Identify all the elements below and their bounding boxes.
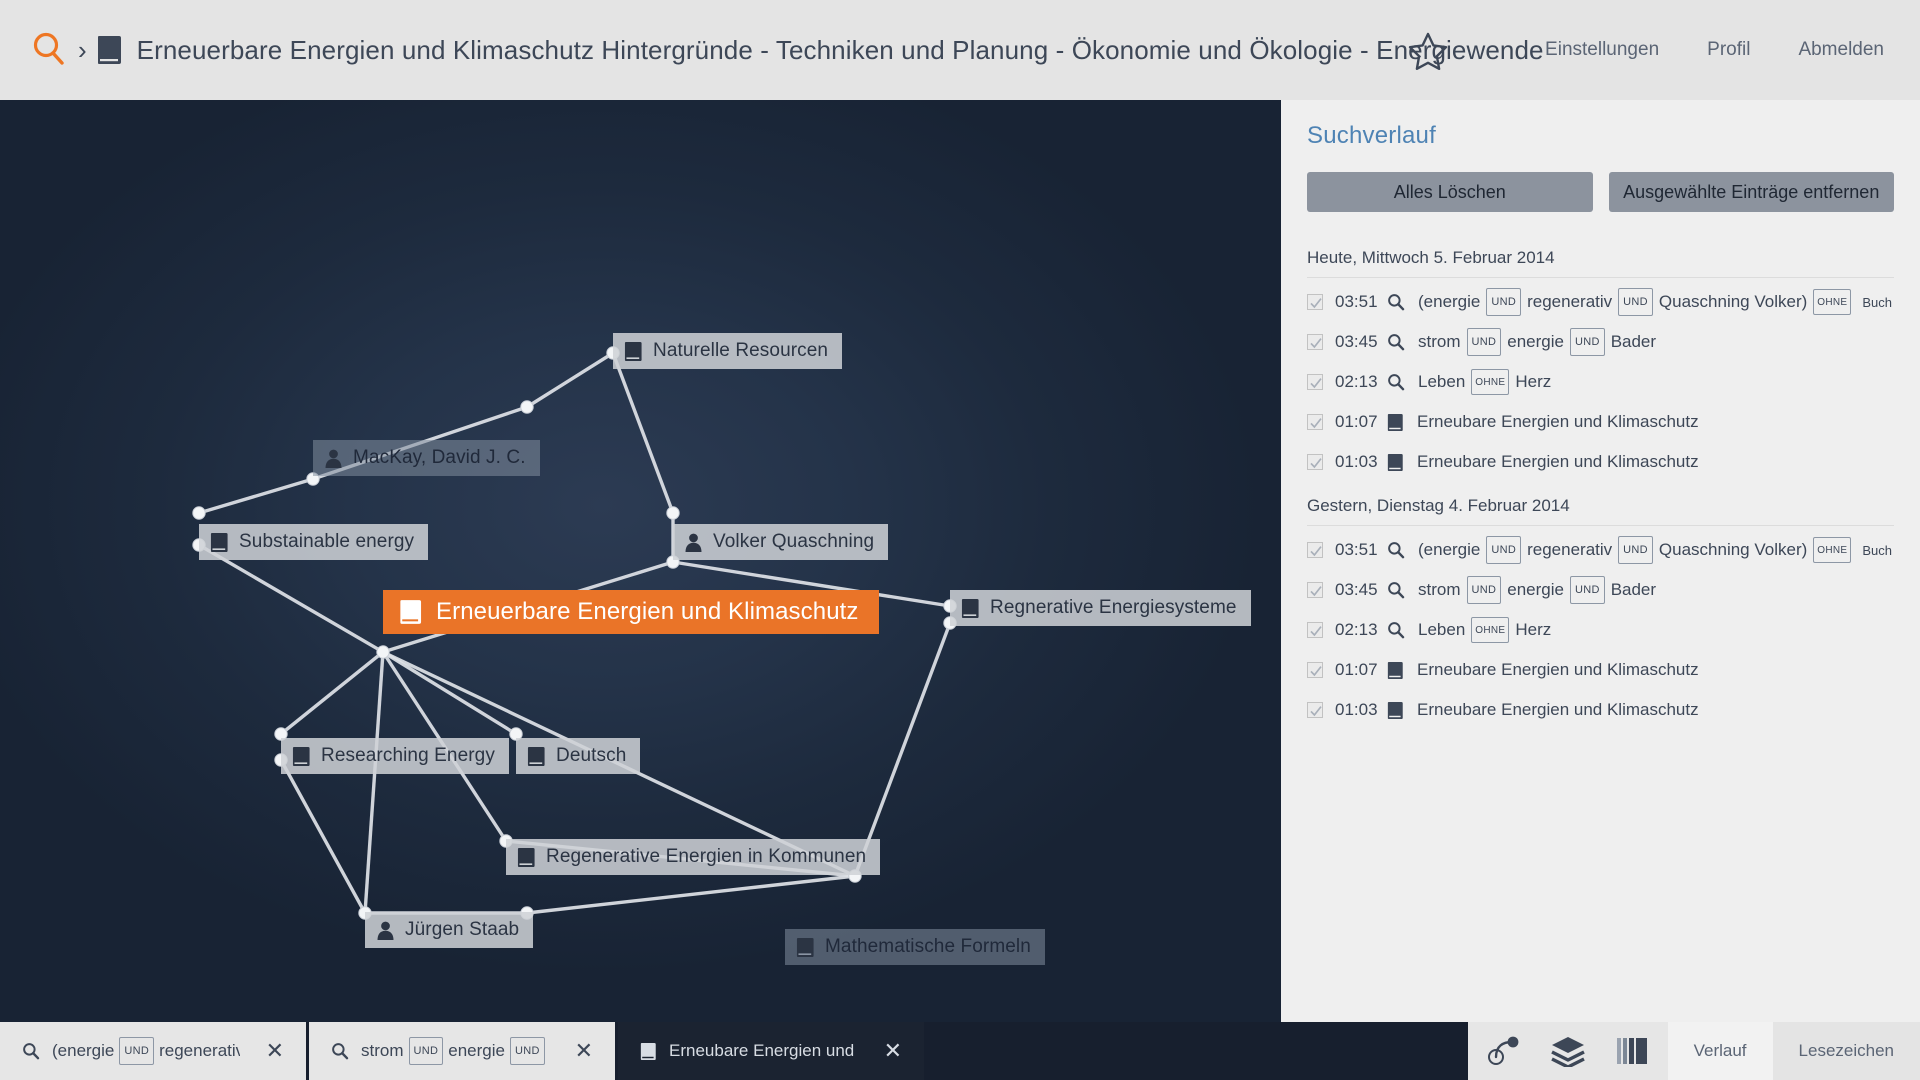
history-row-time: 03:51 [1335, 540, 1381, 560]
graph-node-label: Regenerative Energien in Kommunen [546, 846, 866, 868]
book-icon [1387, 413, 1404, 432]
query-term: Buch [1862, 543, 1892, 558]
header-right-group: Einstellungen Profil Abmelden [1405, 27, 1920, 73]
history-row-query: (energieUNDregenerativUNDQuaschning Volk… [1417, 536, 1892, 564]
bottom-bar: (energieUNDregenerativUND...✕stromUNDene… [0, 1022, 1920, 1080]
history-row-query: Erneubare Energien und Klimaschutz [1416, 660, 1700, 680]
history-row-checkbox[interactable] [1307, 414, 1323, 430]
query-term: Erneubare Energien und Klimaschutz [1416, 452, 1700, 472]
query-term: Erneubare Energien und ... [669, 1041, 858, 1061]
history-row-checkbox[interactable] [1307, 702, 1323, 718]
book-icon [399, 599, 423, 625]
history-row-checkbox[interactable] [1307, 542, 1323, 558]
graph-node-juergen-staab[interactable]: Jürgen Staab [365, 912, 533, 948]
search-icon [1387, 373, 1405, 391]
tab-strip-spacer [927, 1022, 1468, 1080]
query-term: (energie [1417, 292, 1481, 312]
history-row[interactable]: 01:03Erneubare Energien und Klimaschutz [1307, 442, 1894, 482]
graph-node-label: Erneuerbare Energien und Klimaschutz [436, 598, 859, 626]
star-icon[interactable] [1405, 27, 1451, 73]
query-term: Quaschning Volker) [1658, 292, 1808, 312]
header-link-einstellungen[interactable]: Einstellungen [1545, 39, 1659, 61]
graph-node-regenerative-energien-in-kommunen[interactable]: Regenerative Energien in Kommunen [506, 839, 880, 875]
history-row[interactable]: 03:51(energieUNDregenerativUNDQuaschning… [1307, 530, 1894, 570]
search-icon [1387, 293, 1405, 311]
header-left-group: › Erneuerbare Energien und Klimaschutz H… [0, 30, 1405, 70]
graph-node-naturelle-resourcen[interactable]: Naturelle Resourcen [613, 333, 842, 369]
query-term: strom [1417, 580, 1462, 600]
history-row-query: Erneubare Energien und Klimaschutz [1416, 700, 1700, 720]
query-term: Quaschning Volker) [1658, 540, 1808, 560]
query-term: Herz [1514, 620, 1552, 640]
query-operator: UND [1467, 576, 1502, 604]
history-row-time: 01:03 [1335, 700, 1381, 720]
search-icon [1387, 333, 1405, 351]
app-header: › Erneuerbare Energien und Klimaschutz H… [0, 0, 1920, 100]
graph-edges [0, 100, 1281, 1022]
query-operator: UND [1486, 536, 1521, 564]
query-term: Bader [1610, 580, 1657, 600]
history-row-time: 01:07 [1335, 412, 1381, 432]
close-icon[interactable]: ✕ [858, 1040, 902, 1062]
query-operator: OHNE [1471, 617, 1509, 643]
history-row-checkbox[interactable] [1307, 294, 1323, 310]
query-term: (energie [1417, 540, 1481, 560]
bottom-toolbar [1468, 1022, 1668, 1080]
history-day-label: Gestern, Dienstag 4. Februar 2014 [1307, 488, 1894, 525]
book-icon [210, 532, 229, 553]
graph-node-label: Researching Energy [321, 745, 495, 767]
panel-tab-lesezeichen[interactable]: Lesezeichen [1773, 1022, 1920, 1080]
query-operator: UND [1618, 288, 1653, 316]
browser-tab-label: Erneubare Energien und ... [669, 1041, 858, 1061]
browser-tab[interactable]: Erneubare Energien und ...✕ [618, 1022, 924, 1080]
browser-tab[interactable]: stromUNDenergieUND...✕ [309, 1022, 615, 1080]
history-row[interactable]: 03:45stromUNDenergieUNDBader [1307, 322, 1894, 362]
history-day-label: Heute, Mittwoch 5. Februar 2014 [1307, 240, 1894, 277]
history-row-checkbox[interactable] [1307, 374, 1323, 390]
book-icon [97, 35, 123, 65]
book-icon [1387, 453, 1404, 472]
query-term: energie [1506, 332, 1565, 352]
book-icon [517, 847, 536, 868]
history-row-checkbox[interactable] [1307, 454, 1323, 470]
query-operator: UND [1618, 536, 1653, 564]
query-term: Erneubare Energien und Klimaschutz [1416, 660, 1700, 680]
history-row-query: (energieUNDregenerativUNDQuaschning Volk… [1417, 288, 1892, 316]
panel-title: Suchverlauf [1307, 122, 1894, 150]
history-row-query: LebenOHNEHerz [1417, 617, 1552, 643]
divider [1307, 277, 1894, 278]
query-operator: OHNE [1813, 537, 1851, 563]
graph-view-icon[interactable] [1472, 1022, 1536, 1080]
history-row-checkbox[interactable] [1307, 582, 1323, 598]
browser-tab[interactable]: (energieUNDregenerativUND...✕ [0, 1022, 306, 1080]
graph-node-label: Deutsch [556, 745, 626, 767]
query-term: regenerativ [1526, 292, 1613, 312]
query-operator: UND [1486, 288, 1521, 316]
history-row-query: stromUNDenergieUNDBader [1417, 328, 1657, 356]
query-term: Leben [1417, 620, 1466, 640]
query-term: Buch [1862, 295, 1892, 310]
history-row[interactable]: 02:13LebenOHNEHerz [1307, 362, 1894, 402]
history-row-checkbox[interactable] [1307, 662, 1323, 678]
search-icon [1387, 621, 1405, 639]
graph-node-mathematische-formeln[interactable]: Mathematische Formeln [785, 929, 1045, 965]
query-operator: UND [409, 1037, 444, 1065]
search-icon [1387, 541, 1405, 559]
clear-all-button[interactable]: Alles Löschen [1307, 172, 1593, 212]
graph-node-regnerative-energiesysteme[interactable]: Regnerative Energiesysteme [950, 590, 1251, 626]
query-operator: UND [119, 1037, 154, 1065]
graph-canvas[interactable]: Naturelle ResourcenMacKay, David J. C.Su… [0, 100, 1281, 1022]
query-operator: OHNE [1813, 289, 1851, 315]
person-icon [324, 448, 343, 469]
history-groups: Heute, Mittwoch 5. Februar 201403:51(ene… [1307, 240, 1894, 730]
query-term: strom [1417, 332, 1462, 352]
history-row-time: 03:51 [1335, 292, 1381, 312]
query-operator: UND [510, 1037, 545, 1065]
book-icon [624, 341, 643, 362]
query-term: Erneubare Energien und Klimaschutz [1416, 412, 1700, 432]
query-term: Bader [1610, 332, 1657, 352]
browser-tab-label: (energieUNDregenerativUND... [52, 1037, 240, 1065]
history-day-group: Gestern, Dienstag 4. Februar 201403:51(e… [1307, 488, 1894, 730]
columns-icon[interactable] [1600, 1022, 1664, 1080]
graph-node-volker-quaschning[interactable]: Volker Quaschning [673, 524, 888, 560]
book-icon [796, 937, 815, 958]
header-link-abmelden[interactable]: Abmelden [1798, 39, 1884, 61]
graph-node-deutsch[interactable]: Deutsch [516, 738, 640, 774]
history-day-group: Heute, Mittwoch 5. Februar 201403:51(ene… [1307, 240, 1894, 482]
layers-icon[interactable] [1536, 1022, 1600, 1080]
query-operator: UND [1570, 576, 1605, 604]
book-icon [640, 1042, 657, 1061]
book-icon [1387, 701, 1404, 720]
graph-node-label: MacKay, David J. C. [353, 447, 526, 469]
history-row[interactable]: 02:13LebenOHNEHerz [1307, 610, 1894, 650]
history-row-checkbox[interactable] [1307, 334, 1323, 350]
query-term: Leben [1417, 372, 1466, 392]
divider [1307, 525, 1894, 526]
graph-node-label: Naturelle Resourcen [653, 340, 828, 362]
history-row[interactable]: 01:07Erneubare Energien und Klimaschutz [1307, 650, 1894, 690]
book-icon [292, 746, 311, 767]
history-row[interactable]: 03:51(energieUNDregenerativUNDQuaschning… [1307, 282, 1894, 322]
graph-node-erneuerbare-energien-und-klimaschutz[interactable]: Erneuerbare Energien und Klimaschutz [383, 590, 879, 634]
history-row-time: 01:07 [1335, 660, 1381, 680]
history-row-time: 02:13 [1335, 620, 1381, 640]
query-term: Erneubare Energien und Klimaschutz [1416, 700, 1700, 720]
graph-node-label: Regnerative Energiesysteme [990, 597, 1237, 619]
history-panel: Suchverlauf Alles Löschen Ausgewählte Ei… [1281, 100, 1920, 1022]
search-icon [331, 1042, 349, 1060]
person-icon [684, 532, 703, 553]
chevron-right-icon: › [78, 37, 87, 63]
graph-node-label: Mathematische Formeln [825, 936, 1031, 958]
header-link-profil[interactable]: Profil [1707, 39, 1750, 61]
search-icon [1387, 581, 1405, 599]
history-row[interactable]: 03:45stromUNDenergieUNDBader [1307, 570, 1894, 610]
book-icon [527, 746, 546, 767]
query-term: regenerativ [159, 1041, 239, 1061]
graph-node-label: Volker Quaschning [713, 531, 874, 553]
history-row-query: LebenOHNEHerz [1417, 369, 1552, 395]
query-term: Herz [1514, 372, 1552, 392]
query-term: strom [361, 1041, 404, 1061]
query-operator: OHNE [1471, 369, 1509, 395]
graph-node-mackay-david[interactable]: MacKay, David J. C. [313, 440, 540, 476]
query-term: energie [448, 1041, 505, 1061]
search-icon[interactable] [30, 30, 70, 70]
panel-tab-strip: VerlaufLesezeichen [1668, 1022, 1920, 1080]
breadcrumb-title: Erneuerbare Energien und Klimaschutz Hin… [137, 35, 1544, 66]
query-term: (energie [52, 1041, 114, 1061]
query-operator: UND [1467, 328, 1502, 356]
history-row-query: Erneubare Energien und Klimaschutz [1416, 452, 1700, 472]
tab-strip: (energieUNDregenerativUND...✕stromUNDene… [0, 1022, 927, 1080]
history-row-time: 03:45 [1335, 580, 1381, 600]
history-row-query: stromUNDenergieUNDBader [1417, 576, 1657, 604]
panel-tab-verlauf[interactable]: Verlauf [1668, 1022, 1773, 1080]
history-row-query: Erneubare Energien und Klimaschutz [1416, 412, 1700, 432]
query-term: energie [1506, 580, 1565, 600]
book-icon [961, 598, 980, 619]
close-icon[interactable]: ✕ [240, 1040, 284, 1062]
graph-node-label: Substainable energy [239, 531, 414, 553]
history-row-time: 01:03 [1335, 452, 1381, 472]
close-icon[interactable]: ✕ [549, 1040, 593, 1062]
remove-selected-button[interactable]: Ausgewählte Einträge entfernen [1609, 172, 1895, 212]
history-row-time: 02:13 [1335, 372, 1381, 392]
search-icon [22, 1042, 40, 1060]
history-row[interactable]: 01:07Erneubare Energien und Klimaschutz [1307, 402, 1894, 442]
graph-node-label: Jürgen Staab [405, 919, 519, 941]
history-row-checkbox[interactable] [1307, 622, 1323, 638]
query-operator: UND [1570, 328, 1605, 356]
graph-node-substainable-energy[interactable]: Substainable energy [199, 524, 428, 560]
query-term: regenerativ [1526, 540, 1613, 560]
browser-tab-label: stromUNDenergieUND... [361, 1037, 549, 1065]
panel-action-buttons: Alles Löschen Ausgewählte Einträge entfe… [1307, 172, 1894, 212]
person-icon [376, 920, 395, 941]
history-row-time: 03:45 [1335, 332, 1381, 352]
history-row[interactable]: 01:03Erneubare Energien und Klimaschutz [1307, 690, 1894, 730]
graph-node-researching-energy[interactable]: Researching Energy [281, 738, 509, 774]
book-icon [1387, 661, 1404, 680]
